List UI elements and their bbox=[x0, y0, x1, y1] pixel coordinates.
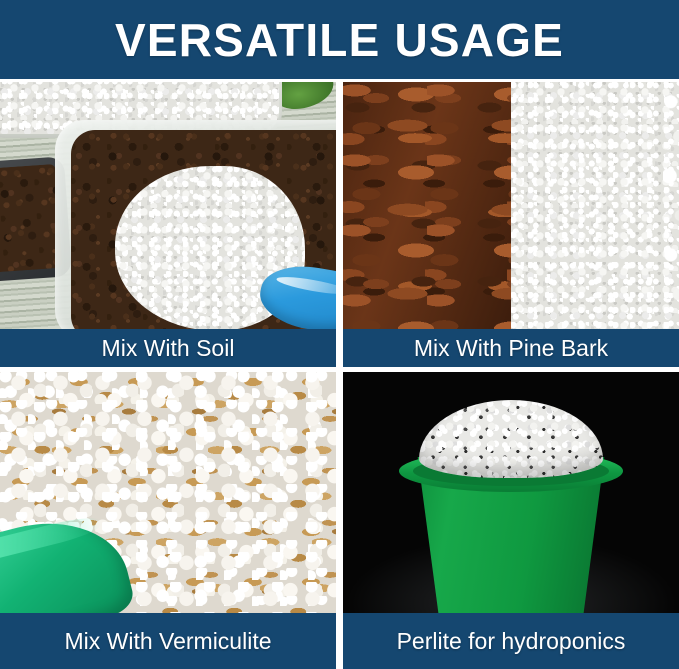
blue-scoop bbox=[260, 268, 336, 329]
caption-bar-mix-with-pine-bark: Mix With Pine Bark bbox=[343, 329, 679, 367]
scoop-bowl bbox=[255, 259, 336, 329]
caption-bar-mix-with-soil: Mix With Soil bbox=[0, 329, 336, 367]
panel-mix-with-pine-bark: Mix With Pine Bark bbox=[343, 82, 679, 367]
panel-mix-with-vermiculite: Mix With Vermiculite bbox=[0, 372, 336, 669]
panel-mix-with-soil: Mix With Soil bbox=[0, 82, 336, 367]
black-tray-soil bbox=[0, 164, 62, 274]
usage-panel-grid: Mix With Soil Mix With Pine Bark bbox=[0, 82, 679, 669]
bark-perlite-boundary bbox=[663, 82, 679, 329]
clear-plastic-tub bbox=[55, 120, 336, 329]
photo-mix-with-vermiculite bbox=[0, 372, 336, 613]
caption-bar-perlite-for-hydroponics: Perlite for hydroponics bbox=[343, 613, 679, 669]
caption-perlite-for-hydroponics: Perlite for hydroponics bbox=[397, 630, 626, 653]
photo-perlite-for-hydroponics bbox=[343, 372, 679, 613]
green-scoop bbox=[0, 521, 126, 613]
perlite-granules bbox=[511, 82, 679, 329]
header-banner: VERSATILE USAGE bbox=[0, 0, 679, 79]
pine-bark-chips bbox=[343, 82, 518, 329]
caption-mix-with-soil: Mix With Soil bbox=[102, 337, 235, 360]
panel-perlite-for-hydroponics: Perlite for hydroponics bbox=[343, 372, 679, 669]
photo-mix-with-pine-bark bbox=[343, 82, 679, 329]
photo-mix-with-soil bbox=[0, 82, 336, 329]
caption-mix-with-pine-bark: Mix With Pine Bark bbox=[414, 337, 608, 360]
versatile-usage-infographic: VERSATILE USAGE bbox=[0, 0, 679, 669]
page-title: VERSATILE USAGE bbox=[115, 17, 564, 63]
caption-bar-mix-with-vermiculite: Mix With Vermiculite bbox=[0, 613, 336, 669]
caption-mix-with-vermiculite: Mix With Vermiculite bbox=[64, 630, 271, 653]
